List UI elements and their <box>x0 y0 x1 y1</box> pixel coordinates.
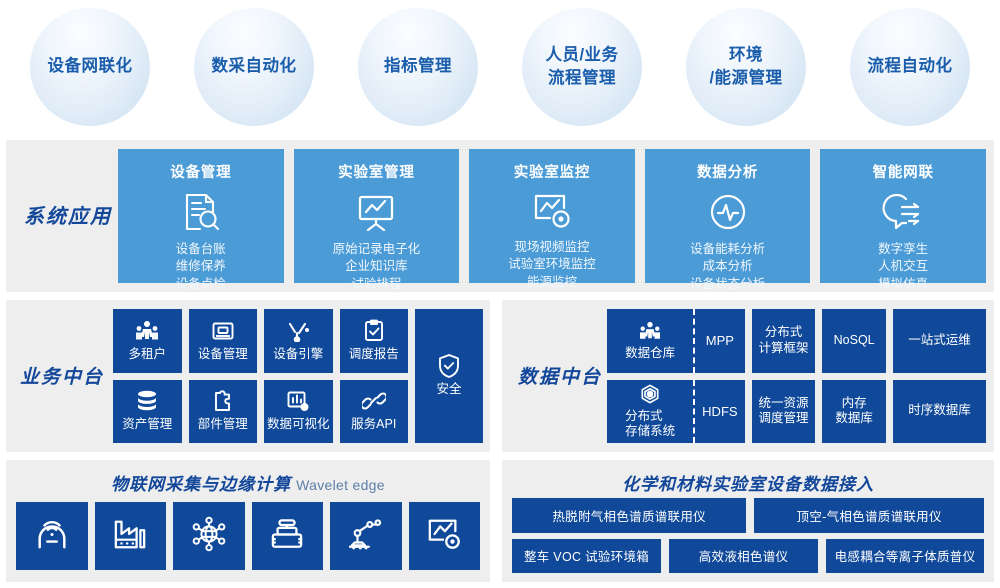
tile-label: 分布式存储系统 <box>625 409 675 440</box>
data-row-2: 分布式存储系统 HDFS 统一资源调度管理 内存数据库 时序数据库 <box>607 380 986 444</box>
tile-label: 多租户 <box>128 347 166 363</box>
api-link-icon <box>362 389 386 413</box>
iot-tile-factory[interactable] <box>95 502 167 570</box>
biz-tile-security[interactable]: 安全 <box>415 309 483 443</box>
gateway-wifi-icon <box>34 516 70 557</box>
lab-chip-headspace-gcms[interactable]: 顶空-气相色谱质谱联用仪 <box>754 498 984 533</box>
data-tile-unified-resource-scheduling[interactable]: 统一资源调度管理 <box>752 380 816 444</box>
business-tiles: 多租户 设备管理 <box>113 309 408 443</box>
card-title: 数据分析 <box>697 161 758 182</box>
architecture-diagram: 设备网联化 数采自动化 指标管理 人员/业务流程管理 环境/能源管理 流程自动化… <box>0 0 1000 588</box>
lab-data-heading: 化学和材料实验室设备数据接入 <box>502 460 994 495</box>
tile-label: 资产管理 <box>122 417 172 433</box>
tile-label: 服务API <box>351 417 396 433</box>
iot-tile-sensor-device[interactable] <box>252 502 324 570</box>
system-application-band: 系统应用 设备管理 设备台账维修保养设备点检 实验室管理 <box>6 140 994 292</box>
business-platform-band: 业务中台 多租户 <box>6 300 490 452</box>
biz-tile-component-management[interactable]: 部件管理 <box>189 380 258 444</box>
sysapp-card-data-analysis[interactable]: 数据分析 设备能耗分析成本分析设备状态分析 <box>645 149 811 283</box>
goal-bubble[interactable]: 流程自动化 <box>850 8 970 126</box>
tile-label: 调度报告 <box>349 347 399 363</box>
data-platform-label: 数据中台 <box>518 362 602 389</box>
card-desc: 现场视频监控试验室环境监控能源监控 <box>508 239 596 291</box>
business-row-2: 资产管理 部件管理 <box>113 380 408 444</box>
pulse-circle-icon <box>707 191 749 233</box>
card-title: 智能网联 <box>873 161 934 182</box>
biz-tile-device-engine[interactable]: 设备引擎 <box>264 309 333 373</box>
business-platform-grid: 多租户 设备管理 <box>113 309 483 443</box>
lab-data-band: 化学和材料实验室设备数据接入 热脱附气相色谱质谱联用仪 顶空-气相色谱质谱联用仪… <box>502 460 994 582</box>
network-globe-icon <box>191 516 227 557</box>
iot-edge-heading: 物联网采集与边缘计算Wavelet edge <box>6 460 490 495</box>
iot-icon-row <box>16 502 480 570</box>
goal-bubble[interactable]: 数采自动化 <box>194 8 314 126</box>
lab-chip-hplc[interactable]: 高效液相色谱仪 <box>669 539 818 574</box>
data-mpp-part[interactable]: MPP <box>695 309 744 373</box>
biz-tile-asset-management[interactable]: 资产管理 <box>113 380 182 444</box>
data-row-1: 数据仓库 MPP 分布式计算框架 NoSQL 一站式运维 <box>607 309 986 373</box>
goal-label: 流程自动化 <box>862 55 959 77</box>
sensor-device-icon <box>269 518 305 555</box>
data-platform-band: 数据中台 数据仓库 MPP <box>502 300 994 452</box>
data-tile-warehouse-mpp[interactable]: 数据仓库 MPP <box>607 309 745 373</box>
iot-edge-heading-sub: Wavelet edge <box>296 477 385 493</box>
system-application-cards: 设备管理 设备台账维修保养设备点检 实验室管理 <box>118 149 986 283</box>
data-platform-grid: 数据仓库 MPP 分布式计算框架 NoSQL 一站式运维 <box>607 309 986 443</box>
tile-label: 数据可视化 <box>267 417 330 433</box>
lab-row-2: 整车 VOC 试验环境箱 高效液相色谱仪 电感耦合等离子体质普仪 <box>512 539 984 574</box>
lab-chip-rows: 热脱附气相色谱质谱联用仪 顶空-气相色谱质谱联用仪 整车 VOC 试验环境箱 高… <box>512 498 984 573</box>
goal-bubble[interactable]: 指标管理 <box>358 8 478 126</box>
tile-label: 数据仓库 <box>625 346 675 362</box>
card-title: 设备管理 <box>170 161 231 182</box>
sysapp-card-device-management[interactable]: 设备管理 设备台账维修保养设备点检 <box>118 149 284 283</box>
sysapp-card-lab-monitoring[interactable]: 实验室监控 现场视频监控试验室环境监控能源监控 <box>469 149 635 283</box>
hdfs-part[interactable]: HDFS <box>695 380 744 444</box>
goal-label: 设备网联化 <box>42 55 139 77</box>
ai-head-icon <box>882 191 924 233</box>
goal-bubble[interactable]: 环境/能源管理 <box>686 8 806 126</box>
clipboard-check-icon <box>363 319 385 343</box>
goals-row: 设备网联化 数采自动化 指标管理 人员/业务流程管理 环境/能源管理 流程自动化 <box>0 0 1000 133</box>
distributed-storage-part[interactable]: 分布式存储系统 <box>607 380 695 444</box>
tile-label: 设备管理 <box>198 347 248 363</box>
data-tile-storage-hdfs[interactable]: 分布式存储系统 HDFS <box>607 380 745 444</box>
business-row-1: 多租户 设备管理 <box>113 309 408 373</box>
document-search-icon <box>181 191 221 233</box>
monitor-eye-icon <box>426 517 462 556</box>
iot-edge-band: 物联网采集与边缘计算Wavelet edge <box>6 460 490 582</box>
bar-chart-screen-icon <box>286 389 310 413</box>
data-warehouse-part[interactable]: 数据仓库 <box>607 309 695 373</box>
card-title: 实验室监控 <box>514 161 591 182</box>
device-box-icon <box>211 319 235 343</box>
data-tile-one-stop-ops[interactable]: 一站式运维 <box>893 309 986 373</box>
goal-label: 人员/业务流程管理 <box>539 44 624 89</box>
biz-tile-device-management[interactable]: 设备管理 <box>189 309 258 373</box>
iot-tile-monitoring[interactable] <box>409 502 481 570</box>
card-desc: 原始记录电子化企业知识库试验排程 <box>333 241 421 293</box>
lab-chip-td-gcms[interactable]: 热脱附气相色谱质谱联用仪 <box>512 498 746 533</box>
card-desc: 设备台账维修保养设备点检 <box>176 241 226 293</box>
biz-tile-service-api[interactable]: 服务API <box>340 380 409 444</box>
goal-bubble[interactable]: 设备网联化 <box>30 8 150 126</box>
node-graph-icon <box>286 319 310 343</box>
iot-tile-network[interactable] <box>173 502 245 570</box>
layered-cube-icon <box>639 383 661 405</box>
tile-label: 部件管理 <box>198 417 248 433</box>
card-desc: 设备能耗分析成本分析设备状态分析 <box>690 241 765 293</box>
card-desc: 数字孪生人机交互模拟仿真 <box>878 241 928 293</box>
data-tile-distributed-compute[interactable]: 分布式计算框架 <box>752 309 816 373</box>
data-tile-nosql[interactable]: NoSQL <box>822 309 886 373</box>
factory-icon <box>112 517 148 556</box>
goal-label: 数采自动化 <box>206 55 303 77</box>
presentation-chart-icon <box>355 191 397 233</box>
iot-tile-gateway[interactable] <box>16 502 88 570</box>
tile-label: 安全 <box>436 382 461 398</box>
multi-tenant-icon <box>135 319 159 343</box>
goal-label: 环境/能源管理 <box>703 44 788 89</box>
multi-tenant-icon <box>639 320 661 342</box>
biz-tile-multi-tenant[interactable]: 多租户 <box>113 309 182 373</box>
biz-tile-schedule-report[interactable]: 调度报告 <box>340 309 409 373</box>
system-application-label: 系统应用 <box>24 200 112 229</box>
lab-chip-voc-chamber[interactable]: 整车 VOC 试验环境箱 <box>512 539 661 574</box>
biz-tile-data-visualization[interactable]: 数据可视化 <box>264 380 333 444</box>
iot-tile-robot-arm[interactable] <box>330 502 402 570</box>
business-platform-label: 业务中台 <box>20 362 104 389</box>
monitor-eye-icon <box>531 191 573 231</box>
goal-bubble[interactable]: 人员/业务流程管理 <box>522 8 642 126</box>
data-tile-timeseries-db[interactable]: 时序数据库 <box>893 380 986 444</box>
lab-row-1: 热脱附气相色谱质谱联用仪 顶空-气相色谱质谱联用仪 <box>512 498 984 533</box>
lab-chip-icp-ms[interactable]: 电感耦合等离子体质普仪 <box>826 539 984 574</box>
tile-label: 设备引擎 <box>273 347 323 363</box>
shield-check-icon <box>437 354 461 378</box>
iot-edge-heading-main: 物联网采集与边缘计算 <box>111 475 291 494</box>
sysapp-card-lab-management[interactable]: 实验室管理 原始记录电子化企业知识库试验排程 <box>294 149 460 283</box>
robot-arm-icon <box>348 517 384 556</box>
card-title: 实验室管理 <box>338 161 415 182</box>
sysapp-card-intelligent-network[interactable]: 智能网联 数字孪生人机交互模拟仿真 <box>820 149 986 283</box>
data-tile-in-memory-db[interactable]: 内存数据库 <box>822 380 886 444</box>
database-stack-icon <box>135 389 159 413</box>
puzzle-piece-icon <box>211 389 234 413</box>
goal-label: 指标管理 <box>378 55 458 77</box>
